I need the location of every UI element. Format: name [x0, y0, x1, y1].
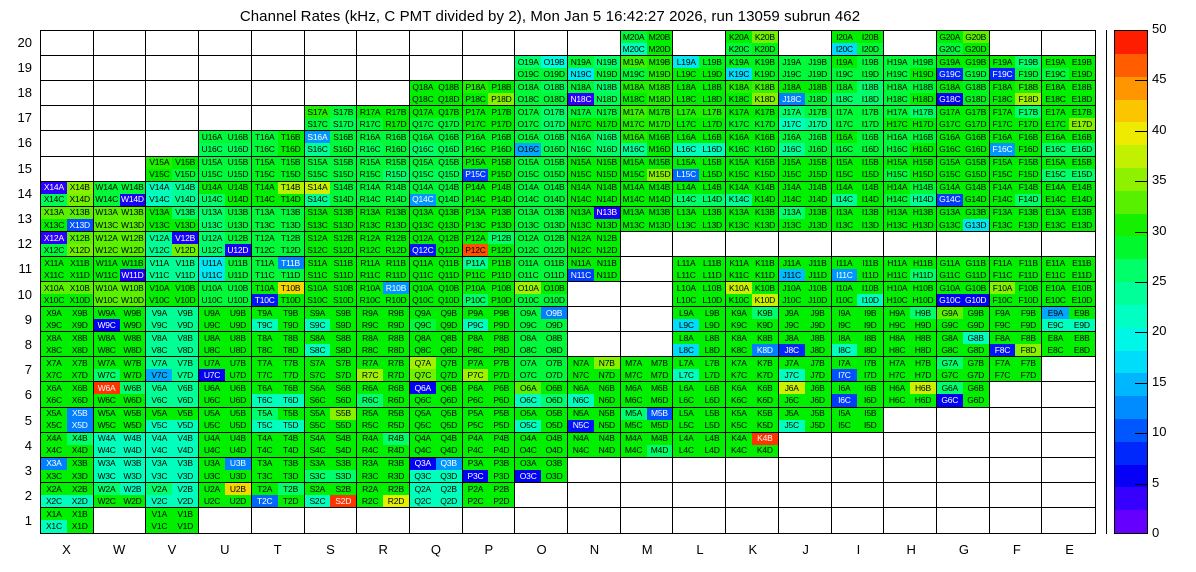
channel-H15C: H15C: [884, 169, 910, 181]
channel-J5C: J5C: [779, 420, 805, 432]
heatmap-cell-U7: U7AU7BU7CU7D: [199, 357, 252, 382]
heatmap-cell-Q2: Q2AQ2BQ2CQ2D: [410, 483, 463, 508]
heatmap-cell-R7: R7AR7BR7CR7D: [357, 357, 410, 382]
channel-S3B: S3B: [330, 458, 356, 470]
channel-S11D: S11D: [330, 269, 356, 281]
channel-O8D: O8D: [541, 344, 567, 356]
heatmap-cell-Q17: Q17AQ17BQ17CQ17D: [410, 106, 463, 131]
channel-V2B: V2B: [172, 483, 198, 495]
channel-L10A: L10A: [673, 282, 699, 294]
channel-W14C: W14C: [94, 194, 120, 206]
channel-S11C: S11C: [305, 269, 331, 281]
heatmap-cell-G11: G11AG11BG11CG11D: [937, 257, 990, 282]
channel-I13C: I13C: [832, 219, 858, 231]
channel-V12D: V12D: [172, 244, 198, 256]
channel-X5A: X5A: [41, 408, 67, 420]
channel-G8A: G8A: [937, 332, 963, 344]
channel-Q11A: Q11A: [410, 257, 436, 269]
channel-I8A: I8A: [832, 332, 858, 344]
channel-W9B: W9B: [120, 307, 146, 319]
channel-J15A: J15A: [779, 157, 805, 169]
y-tick-6: 6: [6, 387, 32, 402]
channel-V11C: V11C: [146, 269, 172, 281]
channel-U9C: U9C: [199, 319, 225, 331]
channel-N18B: N18B: [594, 81, 620, 93]
channel-I20B: I20B: [857, 31, 883, 43]
channel-K7A: K7A: [726, 357, 752, 369]
channel-S16C: S16C: [305, 143, 331, 155]
channel-P6C: P6C: [463, 394, 489, 406]
heatmap-cell-J6: J6AJ6BJ6CJ6D: [779, 382, 832, 407]
channel-Q9D: Q9D: [436, 319, 462, 331]
heatmap-cell-V7: V7AV7BV7CV7D: [146, 357, 199, 382]
channel-H7A: H7A: [884, 357, 910, 369]
heatmap-cell-E20: [1042, 31, 1095, 56]
channel-N14C: N14C: [568, 194, 594, 206]
channel-S14D: S14D: [330, 194, 356, 206]
heatmap-cell-L8: L8AL8BL8CL8D: [673, 332, 726, 357]
channel-L6D: L6D: [699, 394, 725, 406]
channel-E17D: E17D: [1069, 118, 1095, 130]
heatmap-cell-Q12: Q12AQ12BQ12CQ12D: [410, 232, 463, 257]
channel-W10B: W10B: [120, 282, 146, 294]
heatmap-cell-J17: J17AJ17BJ17CJ17D: [779, 106, 832, 131]
channel-J15D: J15D: [805, 169, 831, 181]
channel-M6A: M6A: [621, 382, 647, 394]
channel-O12C: O12C: [515, 244, 541, 256]
channel-U4B: U4B: [225, 433, 251, 445]
channel-Q9A: Q9A: [410, 307, 436, 319]
heatmap-cell-M13: M13AM13BM13CM13D: [621, 207, 674, 232]
channel-W11D: W11D: [120, 269, 146, 281]
heatmap-cell-L6: L6AL6BL6CL6D: [673, 382, 726, 407]
channel-W8B: W8B: [120, 332, 146, 344]
channel-J11B: J11B: [805, 257, 831, 269]
channel-W13A: W13A: [94, 207, 120, 219]
channel-E9B: E9B: [1069, 307, 1095, 319]
heatmap-cell-G3: [937, 458, 990, 483]
channel-Q12B: Q12B: [436, 232, 462, 244]
channel-W2D: W2D: [120, 495, 146, 507]
channel-S13B: S13B: [330, 207, 356, 219]
channel-O11D: O11D: [541, 269, 567, 281]
channel-I13B: I13B: [857, 207, 883, 219]
channel-I17C: I17C: [832, 118, 858, 130]
x-tick-G: G: [938, 542, 991, 557]
heatmap-cell-V4: V4AV4BV4CV4D: [146, 433, 199, 458]
channel-H10A: H10A: [884, 282, 910, 294]
channel-K20B: K20B: [752, 31, 778, 43]
channel-R7A: R7A: [357, 357, 383, 369]
heatmap-cell-M18: M18AM18BM18CM18D: [621, 81, 674, 106]
heatmap-cell-U8: U8AU8BU8CU8D: [199, 332, 252, 357]
heatmap-cell-W8: W8AW8BW8CW8D: [94, 332, 147, 357]
channel-E8B: E8B: [1069, 332, 1095, 344]
channel-N13C: N13C: [568, 219, 594, 231]
channel-J6A: J6A: [779, 382, 805, 394]
channel-P3D: P3D: [488, 470, 514, 482]
channel-Q5B: Q5B: [436, 408, 462, 420]
channel-F9B: F9B: [1015, 307, 1041, 319]
channel-E10C: E10C: [1042, 294, 1068, 306]
heatmap-cell-W3: W3AW3BW3CW3D: [94, 458, 147, 483]
heatmap-cell-O3: O3AO3BO3CO3D: [515, 458, 568, 483]
heatmap-cell-G13: G13AG13BG13CG13D: [937, 207, 990, 232]
channel-W9D: W9D: [120, 319, 146, 331]
channel-N5A: N5A: [568, 408, 594, 420]
colorbar-band: [1115, 282, 1147, 305]
heatmap-cell-M12: [621, 232, 674, 257]
channel-O8C: O8C: [515, 344, 541, 356]
x-tick-J: J: [779, 542, 832, 557]
colorbar-label-35: 35: [1152, 172, 1166, 187]
heatmap-cell-R17: R17AR17BR17CR17D: [357, 106, 410, 131]
channel-N6C: N6C: [568, 394, 594, 406]
channel-R5A: R5A: [357, 408, 383, 420]
channel-M18B: M18B: [647, 81, 673, 93]
channel-K18A: K18A: [726, 81, 752, 93]
channel-M6D: M6D: [647, 394, 673, 406]
channel-W7A: W7A: [94, 357, 120, 369]
heatmap-cell-U18: [199, 81, 252, 106]
channel-S8D: S8D: [330, 344, 356, 356]
channel-P9C: P9C: [463, 319, 489, 331]
channel-R14D: R14D: [383, 194, 409, 206]
heatmap-cell-S7: S7AS7BS7CS7D: [305, 357, 358, 382]
channel-R14B: R14B: [383, 182, 409, 194]
channel-K8C: K8C: [726, 344, 752, 356]
channel-T5B: T5B: [278, 408, 304, 420]
channel-W8C: W8C: [94, 344, 120, 356]
channel-K13D: K13D: [752, 219, 778, 231]
channel-T4B: T4B: [278, 433, 304, 445]
channel-I13D: I13D: [857, 219, 883, 231]
channel-F10B: F10B: [1015, 282, 1041, 294]
channel-U13D: U13D: [225, 219, 251, 231]
channel-N5D: N5D: [594, 420, 620, 432]
heatmap-cell-Q6: Q6AQ6BQ6CQ6D: [410, 382, 463, 407]
channel-F11A: F11A: [990, 257, 1016, 269]
channel-H10B: H10B: [910, 282, 936, 294]
channel-R7B: R7B: [383, 357, 409, 369]
channel-L4C: L4C: [673, 445, 699, 457]
heatmap-cell-U10: U10AU10BU10CU10D: [199, 282, 252, 307]
channel-L15B: L15B: [699, 157, 725, 169]
heatmap-cell-G19: G19AG19BG19CG19D: [937, 56, 990, 81]
channel-V14A: V14A: [146, 182, 172, 194]
heatmap-cell-R16: R16AR16BR16CR16D: [357, 131, 410, 156]
channel-O3D: O3D: [541, 470, 567, 482]
heatmap-cell-I14: I14AI14BI14CI14D: [832, 182, 885, 207]
heatmap-cell-I10: I10AI10BI10CI10D: [832, 282, 885, 307]
colorbar-label-0: 0: [1152, 525, 1159, 540]
channel-N11C: N11C: [568, 269, 594, 281]
channel-M15B: M15B: [647, 157, 673, 169]
channel-L6B: L6B: [699, 382, 725, 394]
heatmap-cell-G10: G10AG10BG10CG10D: [937, 282, 990, 307]
channel-J5D: J5D: [805, 420, 831, 432]
channel-R5B: R5B: [383, 408, 409, 420]
channel-Q13A: Q13A: [410, 207, 436, 219]
y-tick-8: 8: [6, 337, 32, 352]
channel-V1D: V1D: [172, 520, 198, 533]
heatmap-cell-S11: S11AS11BS11CS11D: [305, 257, 358, 282]
channel-H10C: H10C: [884, 294, 910, 306]
channel-K15D: K15D: [752, 169, 778, 181]
channel-P9A: P9A: [463, 307, 489, 319]
heatmap-cell-K14: K14AK14BK14CK14D: [726, 182, 779, 207]
channel-H6C: H6C: [884, 394, 910, 406]
channel-M20B: M20B: [647, 31, 673, 43]
channel-R8B: R8B: [383, 332, 409, 344]
channel-X13A: X13A: [41, 207, 67, 219]
channel-X12C: X12C: [41, 244, 67, 256]
channel-L4B: L4B: [699, 433, 725, 445]
channel-H6A: H6A: [884, 382, 910, 394]
channel-H9C: H9C: [884, 319, 910, 331]
heatmap-cell-H11: H11AH11BH11CH11D: [884, 257, 937, 282]
heatmap-cell-X6: X6AX6BX6CX6D: [41, 382, 94, 407]
heatmap-cell-W13: W13AW13BW13CW13D: [94, 207, 147, 232]
channel-S10A: S10A: [305, 282, 331, 294]
channel-G17B: G17B: [963, 106, 989, 118]
channel-T12D: T12D: [278, 244, 304, 256]
heatmap-cell-Q18: Q18AQ18BQ18CQ18D: [410, 81, 463, 106]
channel-F8C: F8C: [990, 344, 1016, 356]
heatmap-cell-R14: R14AR14BR14CR14D: [357, 182, 410, 207]
channel-I6C: I6C: [832, 394, 858, 406]
channel-O17C: O17C: [515, 118, 541, 130]
heatmap-cell-O17: O17AO17BO17CO17D: [515, 106, 568, 131]
channel-O12B: O12B: [541, 232, 567, 244]
channel-L18D: L18D: [699, 93, 725, 105]
channel-H11C: H11C: [884, 269, 910, 281]
channel-G7D: G7D: [963, 369, 989, 381]
channel-L13D: L13D: [699, 219, 725, 231]
channel-R11D: R11D: [383, 269, 409, 281]
colorbar-band: [1115, 373, 1147, 396]
heatmap-cell-O9: O9AO9BO9CO9D: [515, 307, 568, 332]
heatmap-cell-Q8: Q8AQ8BQ8CQ8D: [410, 332, 463, 357]
channel-I9A: I9A: [832, 307, 858, 319]
channel-S2C: S2C: [305, 495, 331, 507]
channel-N14D: N14D: [594, 194, 620, 206]
channel-Q6C: Q6C: [410, 394, 436, 406]
channel-T3A: T3A: [252, 458, 278, 470]
channel-O16A: O16A: [515, 131, 541, 143]
heatmap-cell-I16: I16AI16BI16CI16D: [832, 131, 885, 156]
channel-K17D: K17D: [752, 118, 778, 130]
colorbar-band: [1115, 328, 1147, 351]
colorbar-band: [1115, 122, 1147, 145]
channel-V1B: V1B: [172, 508, 198, 521]
channel-M20D: M20D: [647, 43, 673, 55]
heatmap-cell-U9: U9AU9BU9CU9D: [199, 307, 252, 332]
channel-H6D: H6D: [910, 394, 936, 406]
channel-E19A: E19A: [1042, 56, 1068, 68]
channel-G8B: G8B: [963, 332, 989, 344]
heatmap-cell-P13: P13AP13BP13CP13D: [463, 207, 516, 232]
channel-U10A: U10A: [199, 282, 225, 294]
channel-P15D: P15D: [488, 169, 514, 181]
heatmap-cell-V10: V10AV10BV10CV10D: [146, 282, 199, 307]
heatmap-cell-R10: R10AR10BR10CR10D: [357, 282, 410, 307]
channel-G16C: G16C: [937, 143, 963, 155]
heatmap-cell-E19: E19AE19BE19CE19D: [1042, 56, 1095, 81]
heatmap-cell-V2: V2AV2BV2CV2D: [146, 483, 199, 508]
channel-S2A: S2A: [305, 483, 331, 495]
channel-E13A: E13A: [1042, 207, 1068, 219]
y-tick-17: 17: [6, 110, 32, 125]
heatmap-cell-T15: T15AT15BT15CT15D: [252, 157, 305, 182]
heatmap-cell-G17: G17AG17BG17CG17D: [937, 106, 990, 131]
heatmap-cell-G9: G9AG9BG9CG9D: [937, 307, 990, 332]
channel-I16B: I16B: [857, 131, 883, 143]
channel-I7A: I7A: [832, 357, 858, 369]
channel-S5A: S5A: [305, 408, 331, 420]
channel-U9B: U9B: [225, 307, 251, 319]
channel-X2C: X2C: [41, 495, 67, 507]
channel-U3B: U3B: [225, 458, 251, 470]
y-tick-12: 12: [6, 236, 32, 251]
channel-P11A: P11A: [463, 257, 489, 269]
channel-P15C: P15C: [463, 169, 489, 181]
channel-R13D: R13D: [383, 219, 409, 231]
channel-J10D: J10D: [805, 294, 831, 306]
y-tick-4: 4: [6, 438, 32, 453]
channel-H14C: H14C: [884, 194, 910, 206]
channel-T3C: T3C: [252, 470, 278, 482]
channel-M16D: M16D: [647, 143, 673, 155]
channel-T6C: T6C: [252, 394, 278, 406]
channel-X11C: X11C: [41, 269, 67, 281]
heatmap-cell-Q10: Q10AQ10BQ10CQ10D: [410, 282, 463, 307]
channel-H14B: H14B: [910, 182, 936, 194]
channel-E18A: E18A: [1042, 81, 1068, 93]
heatmap-cell-P11: P11AP11BP11CP11D: [463, 257, 516, 282]
channel-Q10C: Q10C: [410, 294, 436, 306]
heatmap-cell-T9: T9AT9BT9CT9D: [252, 307, 305, 332]
heatmap-cell-E16: E16AE16BE16CE16D: [1042, 131, 1095, 156]
heatmap-cell-F15: F15AF15BF15CF15D: [990, 157, 1043, 182]
heatmap-cell-F12: [990, 232, 1043, 257]
heatmap-cell-Q13: Q13AQ13BQ13CQ13D: [410, 207, 463, 232]
channel-Q13B: Q13B: [436, 207, 462, 219]
channel-T11B: T11B: [278, 257, 304, 269]
channel-R15A: R15A: [357, 157, 383, 169]
channel-P5B: P5B: [488, 408, 514, 420]
channel-I11D: I11D: [857, 269, 883, 281]
heatmap-cell-H14: H14AH14BH14CH14D: [884, 182, 937, 207]
channel-Q2C: Q2C: [410, 495, 436, 507]
heatmap-cell-S16: S16AS16BS16CS16D: [305, 131, 358, 156]
channel-O3A: O3A: [515, 458, 541, 470]
channel-W11A: W11A: [94, 257, 120, 269]
channel-X5B: X5B: [67, 408, 93, 420]
channel-J14D: J14D: [805, 194, 831, 206]
channel-I15A: I15A: [832, 157, 858, 169]
channel-M7B: M7B: [647, 357, 673, 369]
channel-N17C: N17C: [568, 118, 594, 130]
heatmap-cell-H5: [884, 408, 937, 433]
channel-P14A: P14A: [463, 182, 489, 194]
channel-U5B: U5B: [225, 408, 251, 420]
channel-I10B: I10B: [857, 282, 883, 294]
channel-L6A: L6A: [673, 382, 699, 394]
colorbar-band: [1115, 442, 1147, 465]
channel-O9A: O9A: [515, 307, 541, 319]
channel-K17C: K17C: [726, 118, 752, 130]
channel-T15A: T15A: [252, 157, 278, 169]
channel-T5D: T5D: [278, 420, 304, 432]
channel-M15A: M15A: [621, 157, 647, 169]
channel-F9D: F9D: [1015, 319, 1041, 331]
channel-H14D: H14D: [910, 194, 936, 206]
channel-T2B: T2B: [278, 483, 304, 495]
channel-I14B: I14B: [857, 182, 883, 194]
channel-N5B: N5B: [594, 408, 620, 420]
channel-T10B: T10B: [278, 282, 304, 294]
channel-M18A: M18A: [621, 81, 647, 93]
colorbar-band: [1115, 100, 1147, 123]
channel-X8B: X8B: [67, 332, 93, 344]
channel-J18B: J18B: [805, 81, 831, 93]
x-tick-H: H: [885, 542, 938, 557]
heatmap-cell-O16: O16AO16BO16CO16D: [515, 131, 568, 156]
heatmap-cell-R1: [357, 508, 410, 533]
channel-U10D: U10D: [225, 294, 251, 306]
channel-R12C: R12C: [357, 244, 383, 256]
channel-X13B: X13B: [67, 207, 93, 219]
y-tick-16: 16: [6, 135, 32, 150]
channel-H18B: H18B: [910, 81, 936, 93]
channel-Q18C: Q18C: [410, 93, 436, 105]
channel-X3A: X3A: [41, 458, 67, 470]
channel-T11C: T11C: [252, 269, 278, 281]
heatmap-cell-Q16: Q16AQ16BQ16CQ16D: [410, 131, 463, 156]
heatmap-cell-F20: [990, 31, 1043, 56]
heatmap-cell-S2: S2AS2BS2CS2D: [305, 483, 358, 508]
y-tick-19: 19: [6, 60, 32, 75]
heatmap-cell-J13: J13AJ13BJ13CJ13D: [779, 207, 832, 232]
heatmap-cell-W20: [94, 31, 147, 56]
heatmap-cell-U14: U14AU14BU14CU14D: [199, 182, 252, 207]
channel-J19A: J19A: [779, 56, 805, 68]
heatmap-cell-F9: F9AF9BF9CF9D: [990, 307, 1043, 332]
channel-G9A: G9A: [937, 307, 963, 319]
heatmap-cell-S9: S9AS9BS9CS9D: [305, 307, 358, 332]
heatmap-cell-W17: [94, 106, 147, 131]
heatmap-cell-E10: E10AE10BE10CE10D: [1042, 282, 1095, 307]
channel-F19B: F19B: [1015, 56, 1041, 68]
heatmap-cell-T5: T5AT5BT5CT5D: [252, 408, 305, 433]
channel-I13A: I13A: [832, 207, 858, 219]
channel-P4D: P4D: [488, 445, 514, 457]
heatmap-cell-X20: [41, 31, 94, 56]
channel-S7D: S7D: [330, 369, 356, 381]
channel-I19D: I19D: [857, 68, 883, 80]
channel-S2B: S2B: [330, 483, 356, 495]
channel-K10A: K10A: [726, 282, 752, 294]
channel-W5C: W5C: [94, 420, 120, 432]
channel-K18B: K18B: [752, 81, 778, 93]
heatmap-cell-F5: [990, 408, 1043, 433]
channel-P17B: P17B: [488, 106, 514, 118]
channel-X4C: X4C: [41, 445, 67, 457]
channel-I15B: I15B: [857, 157, 883, 169]
channel-F19C: F19C: [990, 68, 1016, 80]
colorbar-band: [1115, 305, 1147, 328]
